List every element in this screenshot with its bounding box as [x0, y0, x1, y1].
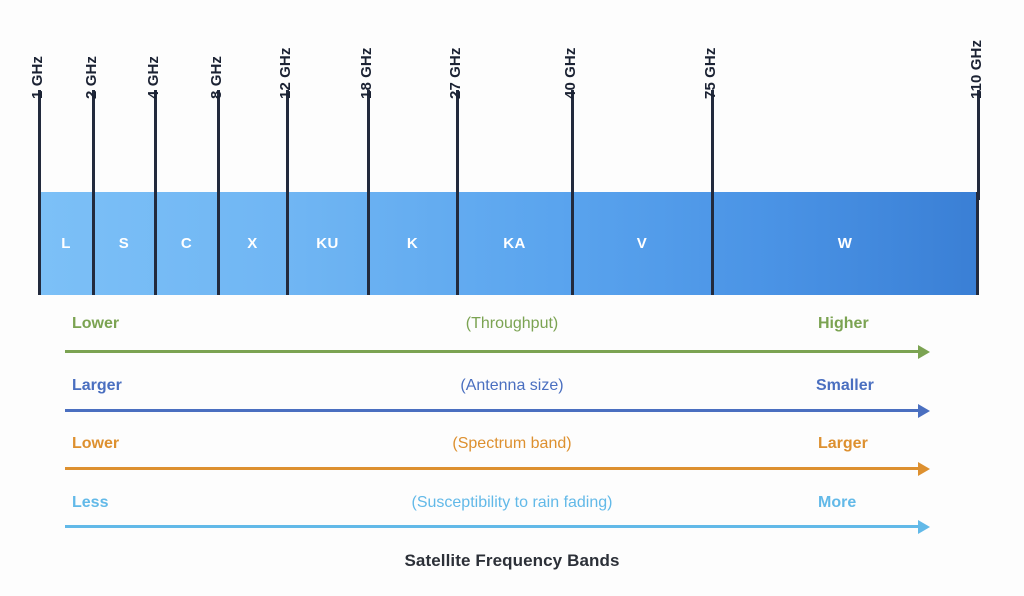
axis-tick-label-1ghz: 1 GHz — [29, 56, 46, 99]
arrow-line-susceptibility-to-rain-fading — [65, 525, 920, 528]
axis-tick-label-2ghz: 2 GHz — [83, 56, 100, 99]
axis-tick-75ghz — [711, 90, 714, 200]
band-divider-x — [217, 192, 220, 295]
band-divider-k — [367, 192, 370, 295]
axis-tick-label-8ghz: 8 GHz — [208, 56, 225, 99]
arrow-line-antenna-size — [65, 409, 920, 412]
band-divider-w — [711, 192, 714, 295]
axis-tick-40ghz — [571, 90, 574, 200]
frequency-band-strip — [39, 192, 978, 295]
axis-tick-8ghz — [217, 90, 220, 200]
arrow-head-antenna-size — [918, 404, 930, 418]
axis-tick-4ghz — [154, 90, 157, 200]
axis-tick-label-110ghz: 110 GHz — [968, 40, 985, 99]
band-divider-s — [92, 192, 95, 295]
band-divider-ka — [456, 192, 459, 295]
arrow-property-label-spectrum-band: (Spectrum band) — [0, 435, 1024, 453]
axis-tick-label-4ghz: 4 GHz — [145, 56, 162, 99]
page-title: Satellite Frequency Bands — [0, 551, 1024, 571]
axis-tick-110ghz — [977, 90, 980, 200]
arrow-head-susceptibility-to-rain-fading — [918, 520, 930, 534]
axis-tick-label-75ghz: 75 GHz — [702, 48, 719, 99]
band-divider-ku — [286, 192, 289, 295]
arrow-property-label-susceptibility-to-rain-fading: (Susceptibility to rain fading) — [0, 494, 1024, 512]
band-divider-l — [38, 192, 41, 295]
arrow-line-throughput — [65, 350, 920, 353]
band-divider-v — [571, 192, 574, 295]
arrow-property-label-throughput: (Throughput) — [0, 315, 1024, 333]
axis-tick-2ghz — [92, 90, 95, 200]
axis-tick-27ghz — [456, 90, 459, 200]
arrow-head-throughput — [918, 345, 930, 359]
axis-tick-label-27ghz: 27 GHz — [447, 48, 464, 99]
axis-tick-1ghz — [38, 90, 41, 200]
band-edge-right — [976, 192, 979, 295]
axis-tick-18ghz — [367, 90, 370, 200]
axis-tick-label-18ghz: 18 GHz — [358, 48, 375, 99]
arrow-line-spectrum-band — [65, 467, 920, 470]
axis-tick-label-40ghz: 40 GHz — [562, 48, 579, 99]
frequency-band-diagram: 1 GHz2 GHz4 GHz8 GHz12 GHz18 GHz27 GHz40… — [0, 0, 1024, 596]
axis-tick-12ghz — [286, 90, 289, 200]
band-divider-c — [154, 192, 157, 295]
axis-tick-label-12ghz: 12 GHz — [277, 48, 294, 99]
arrow-property-label-antenna-size: (Antenna size) — [0, 377, 1024, 395]
arrow-head-spectrum-band — [918, 462, 930, 476]
